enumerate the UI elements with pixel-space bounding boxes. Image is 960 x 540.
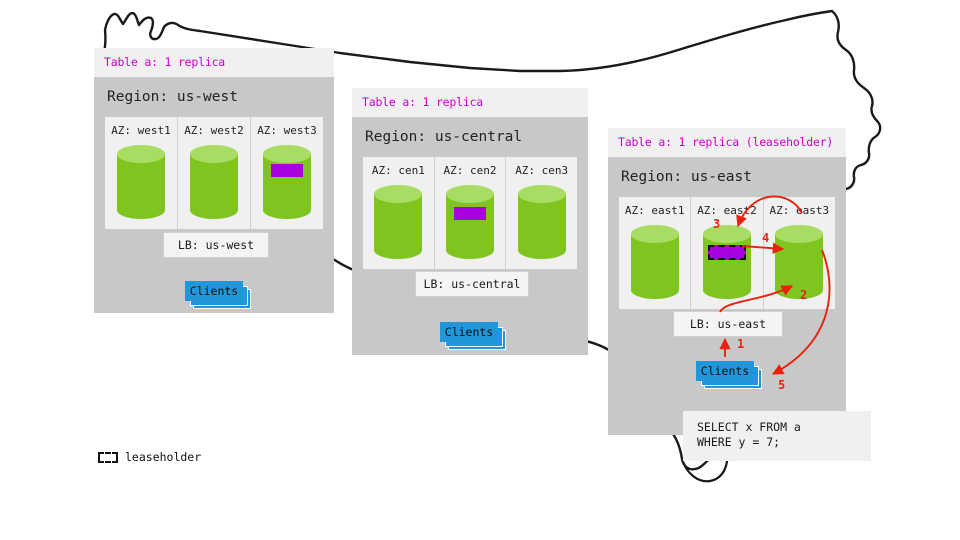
cylinder-cen3 — [518, 185, 566, 259]
legend: leaseholder — [98, 450, 201, 464]
az-cell-east1[interactable]: AZ: east1 — [619, 197, 691, 309]
region-panel-us-central: Table a: 1 replica Region: us-central AZ… — [352, 88, 588, 355]
az-label-cen2: AZ: cen2 — [444, 164, 497, 177]
replica-box-west3 — [271, 164, 303, 177]
dashed-box-icon — [98, 452, 118, 463]
clients-button-us-west[interactable]: Clients — [185, 281, 255, 309]
cylinder-cen2 — [446, 185, 494, 259]
arrow-number-3: 3 — [713, 217, 720, 231]
arrow-number-4: 4 — [762, 231, 769, 245]
az-row-us-central: AZ: cen1 AZ: cen2 — [363, 157, 577, 269]
panel-body-us-central: Region: us-central AZ: cen1 AZ: cen2 — [352, 117, 588, 355]
replica-box-cen2 — [454, 207, 486, 220]
az-cell-cen3[interactable]: AZ: cen3 — [506, 157, 577, 269]
clients-button-us-east[interactable]: Clients — [696, 361, 766, 389]
az-label-east2: AZ: east2 — [697, 204, 757, 217]
sql-query-box: SELECT x FROM a WHERE y = 7; — [683, 411, 871, 461]
az-label-west1: AZ: west1 — [111, 124, 171, 137]
cylinder-west1 — [117, 145, 165, 219]
az-label-west2: AZ: west2 — [184, 124, 244, 137]
clients-label-us-central: Clients — [440, 322, 498, 342]
region-panel-us-west: Table a: 1 replica Region: us-west AZ: w… — [94, 48, 334, 313]
legend-label: leaseholder — [125, 450, 201, 464]
az-cell-east2[interactable]: AZ: east2 — [691, 197, 763, 309]
az-cell-west3[interactable]: AZ: west3 — [251, 117, 323, 229]
panel-header-us-east: Table a: 1 replica (leaseholder) — [608, 128, 846, 157]
clients-label-us-east: Clients — [696, 361, 754, 381]
cylinder-west2 — [190, 145, 238, 219]
panel-body-us-east: Region: us-east AZ: east1 AZ: east2 — [608, 157, 846, 435]
cylinder-west3 — [263, 145, 311, 219]
lb-box-us-east[interactable]: LB: us-east — [673, 311, 783, 337]
az-label-west3: AZ: west3 — [257, 124, 317, 137]
clients-label-us-west: Clients — [185, 281, 243, 301]
arrow-number-1: 1 — [737, 337, 744, 351]
az-cell-cen2[interactable]: AZ: cen2 — [435, 157, 507, 269]
arrow-number-2: 2 — [800, 288, 807, 302]
lb-box-us-central[interactable]: LB: us-central — [415, 271, 529, 297]
region-title-us-west: Region: us-west — [107, 89, 323, 105]
region-title-us-east: Region: us-east — [621, 169, 835, 185]
az-row-us-west: AZ: west1 AZ: west2 — [105, 117, 323, 229]
arrow-number-5: 5 — [778, 378, 785, 392]
az-cell-cen1[interactable]: AZ: cen1 — [363, 157, 435, 269]
az-label-east1: AZ: east1 — [625, 204, 685, 217]
panel-header-us-central: Table a: 1 replica — [352, 88, 588, 117]
az-cell-west2[interactable]: AZ: west2 — [178, 117, 251, 229]
az-label-cen1: AZ: cen1 — [372, 164, 425, 177]
panel-header-us-west: Table a: 1 replica — [94, 48, 334, 77]
az-cell-west1[interactable]: AZ: west1 — [105, 117, 178, 229]
az-label-cen3: AZ: cen3 — [515, 164, 568, 177]
panel-body-us-west: Region: us-west AZ: west1 AZ: west2 — [94, 77, 334, 313]
clients-button-us-central[interactable]: Clients — [440, 322, 510, 350]
az-label-east3: AZ: east3 — [770, 204, 830, 217]
diagram-canvas: Table a: 1 replica Region: us-west AZ: w… — [0, 0, 960, 540]
cylinder-cen1 — [374, 185, 422, 259]
region-title-us-central: Region: us-central — [365, 129, 577, 145]
cylinder-east2 — [703, 225, 751, 299]
cylinder-east1 — [631, 225, 679, 299]
lb-box-us-west[interactable]: LB: us-west — [163, 232, 269, 258]
leaseholder-box-east2 — [708, 245, 746, 260]
